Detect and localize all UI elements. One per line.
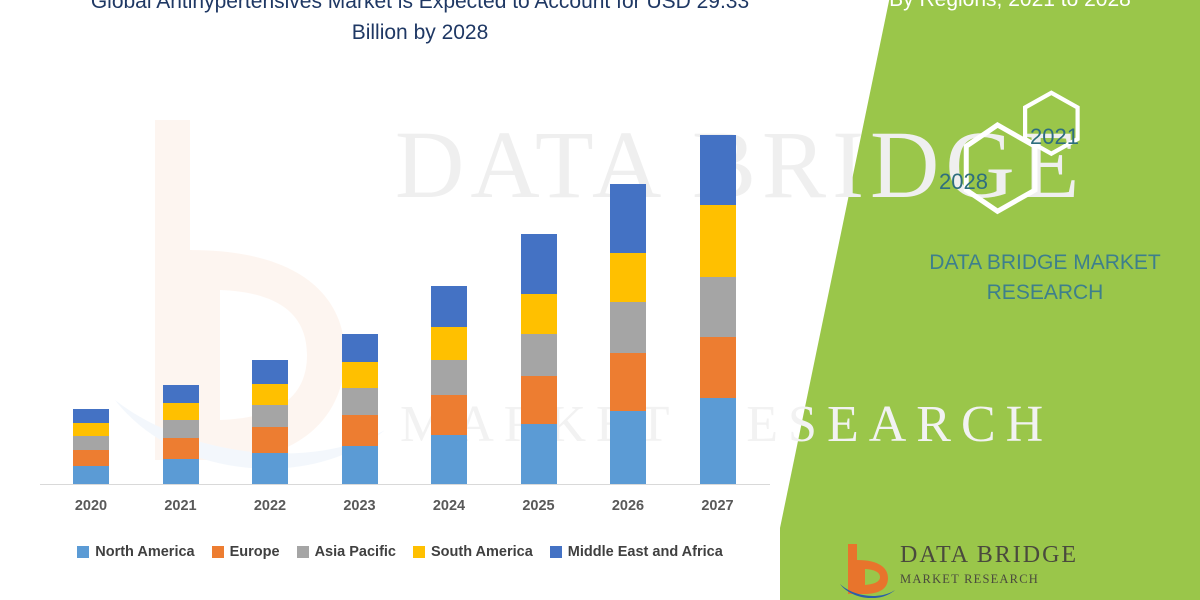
bar-segment-asia-pacific[interactable] <box>73 436 109 450</box>
company-logo: DATA BRIDGE MARKET RESEARCH <box>838 540 1178 600</box>
bar-segment-asia-pacific[interactable] <box>342 388 378 415</box>
bar-segment-south-america[interactable] <box>610 253 646 302</box>
company-logo-name: DATA BRIDGE <box>900 542 1078 569</box>
hexagon-label-2028: 2028 <box>939 169 988 195</box>
legend-item-south-america[interactable]: South America <box>413 544 533 560</box>
bar-2022[interactable] <box>252 360 288 484</box>
legend-item-middle-east-and-africa[interactable]: Middle East and Africa <box>550 544 723 560</box>
bar-segment-north-america[interactable] <box>700 398 736 484</box>
x-axis-labels: 20202021202220232024202520262027 <box>0 498 800 520</box>
legend-swatch-north-america <box>77 546 89 558</box>
bar-segment-south-america[interactable] <box>342 362 378 388</box>
bar-segment-north-america[interactable] <box>252 453 288 484</box>
legend-swatch-middle-east-and-africa <box>550 546 562 558</box>
infographic-canvas: DATA BRIDGE MARKET RESEARCH Global Antih… <box>0 0 1200 600</box>
panel-brand-line2: RESEARCH <box>987 281 1104 304</box>
bar-segment-north-america[interactable] <box>431 435 467 484</box>
bar-segment-north-america[interactable] <box>342 446 378 484</box>
legend-swatch-europe <box>212 546 224 558</box>
bar-segment-north-america[interactable] <box>73 466 109 484</box>
panel-subtitle: By Regions, 2021 to 2028 <box>820 0 1200 15</box>
bar-segment-europe[interactable] <box>700 337 736 398</box>
bar-segment-europe[interactable] <box>610 353 646 411</box>
legend-swatch-asia-pacific <box>297 546 309 558</box>
x-axis-line <box>40 484 770 485</box>
legend-label-asia-pacific: Asia Pacific <box>315 544 396 560</box>
x-axis-label-2021: 2021 <box>136 498 226 514</box>
bar-segment-south-america[interactable] <box>521 294 557 334</box>
x-axis-label-2020: 2020 <box>46 498 136 514</box>
bar-segment-europe[interactable] <box>521 376 557 424</box>
bar-2027[interactable] <box>700 135 736 484</box>
bar-segment-middle-east-and-africa[interactable] <box>431 286 467 327</box>
bar-segment-middle-east-and-africa[interactable] <box>163 385 199 403</box>
hexagon-label-2021: 2021 <box>1030 124 1079 150</box>
stacked-bar-chart: 20202021202220232024202520262027 North A… <box>0 0 800 600</box>
bar-segment-middle-east-and-africa[interactable] <box>700 135 736 205</box>
x-axis-label-2025: 2025 <box>494 498 584 514</box>
legend-swatch-south-america <box>413 546 425 558</box>
legend-label-middle-east-and-africa: Middle East and Africa <box>568 544 723 560</box>
x-axis-label-2023: 2023 <box>315 498 405 514</box>
bar-segment-middle-east-and-africa[interactable] <box>73 409 109 423</box>
legend-item-europe[interactable]: Europe <box>212 544 280 560</box>
bar-segment-north-america[interactable] <box>521 424 557 484</box>
x-axis-label-2022: 2022 <box>225 498 315 514</box>
hexagon-shapes <box>920 85 1120 225</box>
legend-item-asia-pacific[interactable]: Asia Pacific <box>297 544 396 560</box>
bar-2023[interactable] <box>342 334 378 484</box>
panel-brand: DATA BRIDGE MARKET RESEARCH <box>880 248 1200 308</box>
legend-label-europe: Europe <box>230 544 280 560</box>
bar-2026[interactable] <box>610 184 646 484</box>
company-logo-mark <box>838 540 896 598</box>
bar-segment-europe[interactable] <box>431 395 467 435</box>
legend-label-south-america: South America <box>431 544 533 560</box>
bar-segment-europe[interactable] <box>163 438 199 459</box>
bar-segment-europe[interactable] <box>73 450 109 466</box>
x-axis-label-2026: 2026 <box>583 498 673 514</box>
bar-segment-asia-pacific[interactable] <box>521 334 557 376</box>
bar-segment-asia-pacific[interactable] <box>610 302 646 353</box>
bar-segment-middle-east-and-africa[interactable] <box>521 234 557 294</box>
bar-2021[interactable] <box>163 385 199 484</box>
bar-segment-asia-pacific[interactable] <box>163 420 199 438</box>
bar-segment-asia-pacific[interactable] <box>700 277 736 337</box>
bar-2025[interactable] <box>521 234 557 484</box>
bar-segment-middle-east-and-africa[interactable] <box>610 184 646 253</box>
x-axis-label-2027: 2027 <box>673 498 763 514</box>
panel-brand-line1: DATA BRIDGE MARKET <box>929 251 1160 274</box>
bar-segment-south-america[interactable] <box>73 423 109 436</box>
bar-segment-south-america[interactable] <box>163 403 199 420</box>
bar-segment-asia-pacific[interactable] <box>252 405 288 427</box>
company-logo-tagline: MARKET RESEARCH <box>900 572 1039 587</box>
bar-segment-middle-east-and-africa[interactable] <box>252 360 288 384</box>
bar-segment-europe[interactable] <box>342 415 378 446</box>
bar-segment-europe[interactable] <box>252 427 288 453</box>
bar-segment-north-america[interactable] <box>163 459 199 484</box>
bar-segment-south-america[interactable] <box>700 205 736 277</box>
hexagon-group: 2028 2021 <box>920 85 1120 225</box>
bar-segment-north-america[interactable] <box>610 411 646 484</box>
bar-segment-south-america[interactable] <box>252 384 288 405</box>
bar-2020[interactable] <box>73 409 109 484</box>
bar-segment-south-america[interactable] <box>431 327 467 360</box>
chart-legend: North AmericaEuropeAsia PacificSouth Ame… <box>0 540 800 564</box>
bar-segment-asia-pacific[interactable] <box>431 360 467 395</box>
legend-label-north-america: North America <box>95 544 194 560</box>
bar-segment-middle-east-and-africa[interactable] <box>342 334 378 362</box>
x-axis-label-2024: 2024 <box>404 498 494 514</box>
legend-item-north-america[interactable]: North America <box>77 544 194 560</box>
bar-2024[interactable] <box>431 286 467 484</box>
